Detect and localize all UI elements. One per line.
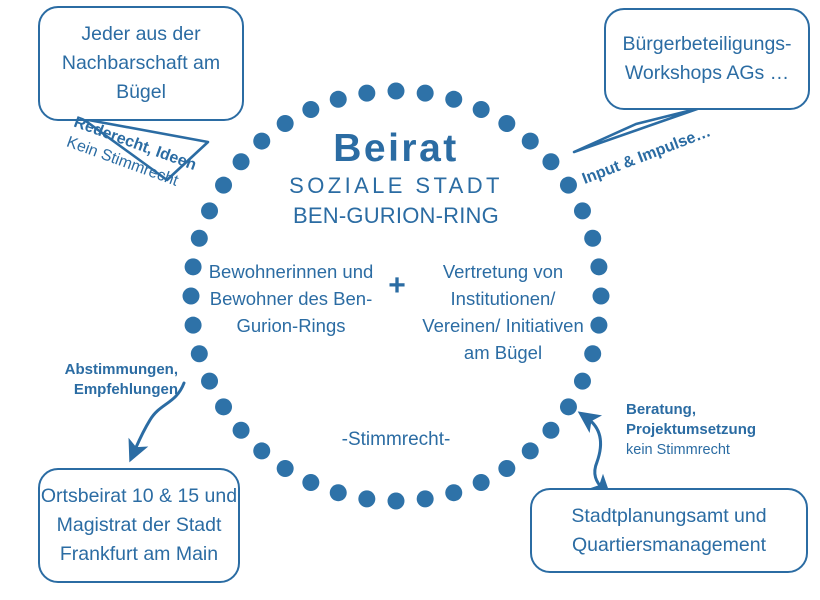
ring-dot xyxy=(417,85,434,102)
ring-dot xyxy=(215,398,232,415)
ring-dot xyxy=(445,91,462,108)
box-ortsbeirat-magistrat[interactable]: Ortsbeirat 10 & 15 und Magistrat der Sta… xyxy=(38,468,240,583)
ring-dot xyxy=(388,83,405,100)
page-title: Beirat xyxy=(196,126,596,171)
membership-residents: Bewohnerinnen und Bewohner des Ben-Gurio… xyxy=(205,258,377,339)
ring-dot xyxy=(277,460,294,477)
ring-dot xyxy=(201,373,218,390)
membership-institutions: Vertretung von Institutionen/ Vereinen/ … xyxy=(417,258,589,366)
speech-bubble-neighbourhood[interactable]: Jeder aus der Nachbarschaft am Bügel xyxy=(38,6,244,121)
ring-dot xyxy=(302,474,319,491)
ring-dot xyxy=(358,490,375,507)
ring-dot xyxy=(445,484,462,501)
label-beratung-bold: Beratung, Projektumsetzung xyxy=(626,400,816,440)
ring-dot xyxy=(498,460,515,477)
ring-dot xyxy=(473,101,490,118)
ring-dot xyxy=(191,230,208,247)
center-title-block: Beirat SOZIALE STADT BEN-GURION-RING xyxy=(196,126,596,231)
diagram-canvas: Beirat SOZIALE STADT BEN-GURION-RING Bew… xyxy=(0,0,820,600)
center-subtitle-secondary: BEN-GURION-RING xyxy=(196,201,596,231)
box-stadtplanungsamt[interactable]: Stadtplanungsamt und Quartiersmanagement xyxy=(530,488,808,573)
label-abstimmungen-empfehlungen: Abstimmungen, Empfehlungen xyxy=(10,360,178,400)
ring-dot xyxy=(330,484,347,501)
ring-dot xyxy=(417,490,434,507)
ring-dot xyxy=(584,230,601,247)
label-beratung-normal: kein Stimmrecht xyxy=(626,440,816,460)
ring-dot xyxy=(560,398,577,415)
center-subtitle: SOZIALE STADT xyxy=(196,171,596,201)
ring-dot xyxy=(330,91,347,108)
ring-dot xyxy=(473,474,490,491)
center-membership-columns: Bewohnerinnen und Bewohner des Ben-Gurio… xyxy=(196,258,598,366)
center-voting-note: -Stimmrecht- xyxy=(196,429,596,451)
ring-dot xyxy=(574,373,591,390)
plus-icon: + xyxy=(377,258,417,299)
ring-dot xyxy=(358,85,375,102)
ring-dot xyxy=(302,101,319,118)
ring-dot xyxy=(388,493,405,510)
label-beratung-projektumsetzung: Beratung, Projektumsetzung kein Stimmrec… xyxy=(626,400,816,460)
speech-bubble-participation[interactable]: Bürgerbeteiligungs- Workshops AGs … xyxy=(604,8,810,110)
